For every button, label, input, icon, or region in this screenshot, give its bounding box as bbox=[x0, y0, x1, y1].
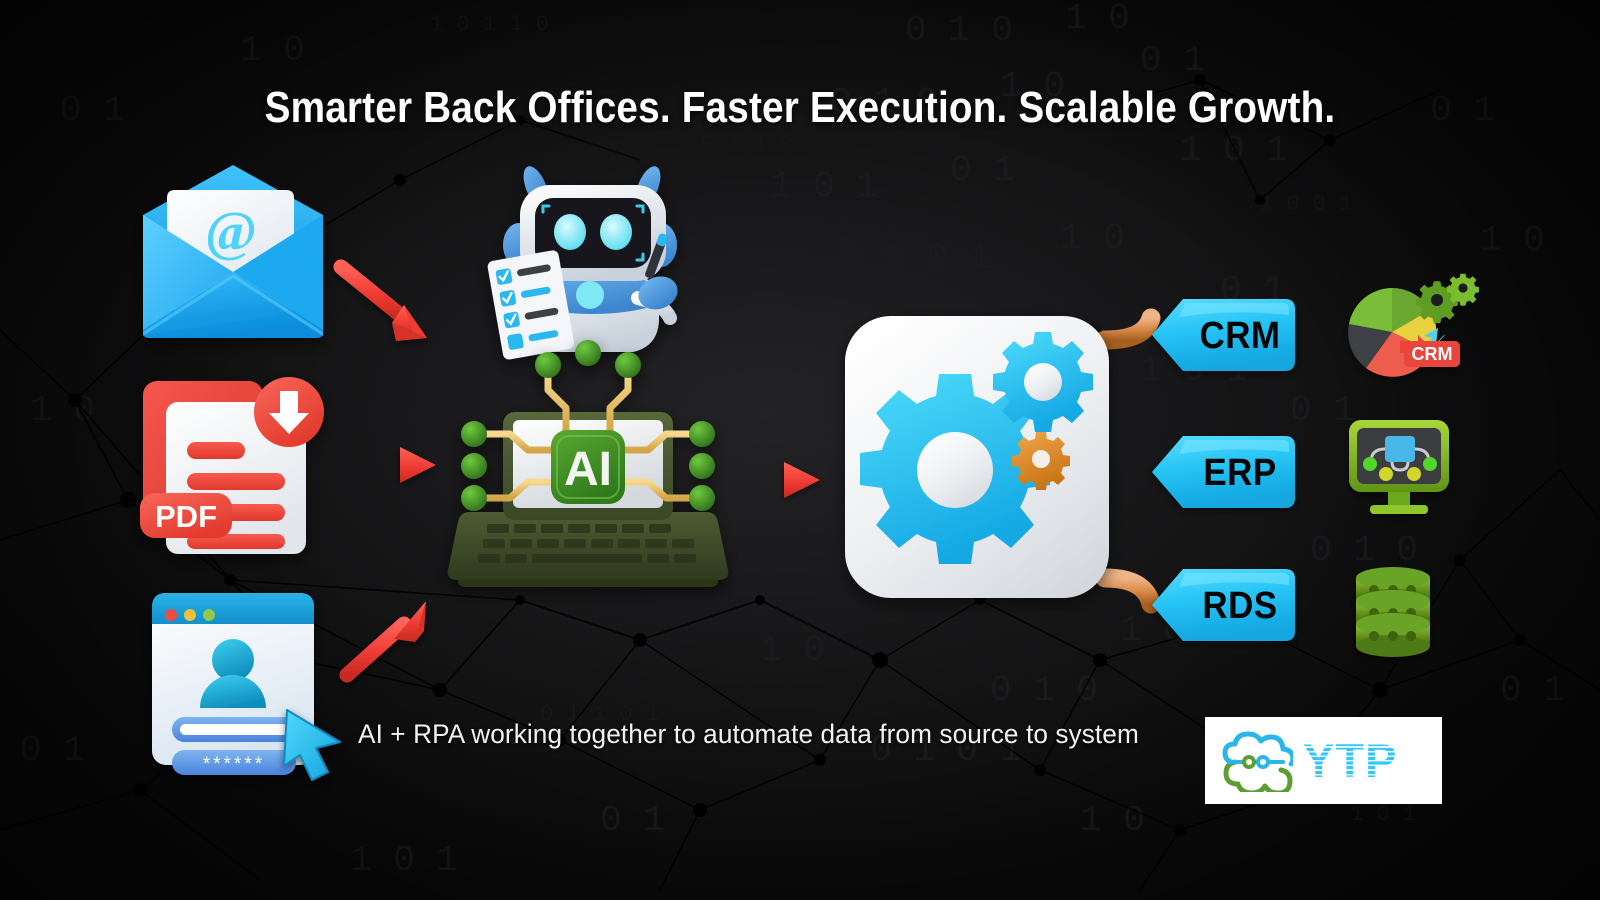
output-tag-label-rds[interactable]: RDS bbox=[1194, 585, 1286, 628]
ytp-wordmark: YTP bbox=[1303, 737, 1397, 784]
output-tag-label-erp[interactable]: ERP bbox=[1194, 452, 1286, 495]
cloud-circuit-icon bbox=[1221, 730, 1293, 792]
password-mask: ****** bbox=[203, 754, 265, 775]
rpa-gears-icon bbox=[845, 316, 1109, 598]
caption-text: AI + RPA working together to automate da… bbox=[358, 719, 1139, 750]
arrow-pdf-to-ai bbox=[323, 447, 436, 483]
arrow-ai-to-rpa bbox=[730, 462, 820, 498]
ai-laptop-chip-icon: AI bbox=[448, 340, 729, 587]
pdf-document-icon: PDF bbox=[140, 377, 324, 554]
output-tag-label-crm[interactable]: CRM bbox=[1194, 315, 1286, 358]
pdf-label: PDF bbox=[155, 499, 217, 534]
arrow-email-to-ai bbox=[341, 267, 427, 341]
email-envelope-icon: @ bbox=[143, 165, 323, 338]
login-form-icon: ****** bbox=[152, 593, 340, 780]
arrow-login-to-ai bbox=[347, 601, 426, 675]
database-stack-icon bbox=[1356, 567, 1430, 657]
svg-text:@: @ bbox=[205, 201, 257, 263]
ai-chip-label: AI bbox=[564, 443, 612, 496]
crm-analytics-icon: CRM bbox=[1348, 274, 1479, 377]
ai-robot-icon bbox=[487, 163, 683, 361]
ytp-logo[interactable]: YTP bbox=[1205, 717, 1442, 804]
infographic-canvas: 0 0 1 0 1 0 0 1 0 1 0 0 1 1 0 1 0 1 1 0 … bbox=[0, 0, 1600, 900]
crm-badge-label: CRM bbox=[1412, 344, 1453, 364]
erp-monitor-icon bbox=[1349, 420, 1449, 514]
